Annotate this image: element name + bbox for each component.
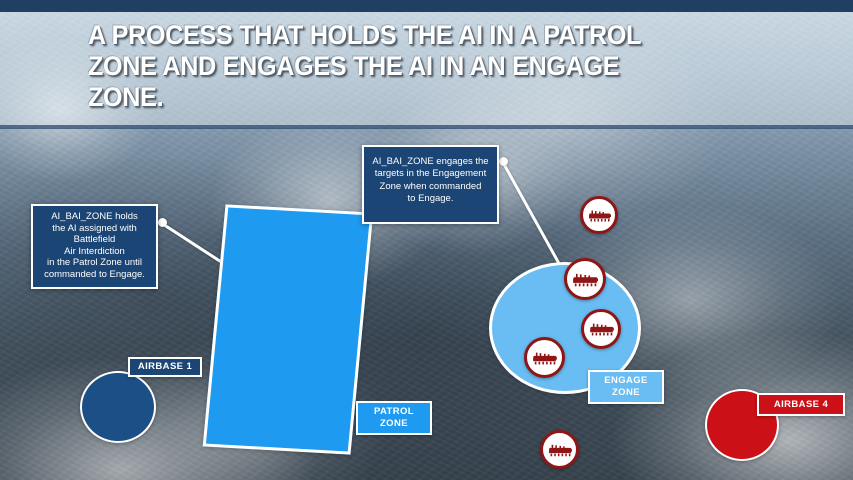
airbase-4-label[interactable]: AIRBASE 4 [757, 393, 845, 416]
factory-icon [588, 209, 611, 222]
patrol-zone-label[interactable]: PATROL ZONE [356, 401, 432, 435]
target-marker[interactable] [540, 430, 579, 469]
factory-icon [532, 351, 557, 365]
patrol-callout-box: AI_BAI_ZONE holds the AI assigned with B… [31, 204, 158, 289]
target-marker[interactable] [581, 309, 621, 349]
factory-icon [548, 443, 572, 457]
factory-icon [589, 322, 614, 336]
airbase-1-marker[interactable] [80, 371, 156, 443]
header-top-rule [0, 0, 853, 12]
page-title: A PROCESS THAT HOLDS THE AI IN A PATROL … [88, 20, 739, 113]
target-marker[interactable] [564, 258, 606, 300]
engage-connector-start-dot [499, 157, 508, 166]
airbase-1-label[interactable]: AIRBASE 1 [128, 357, 202, 377]
engage-zone-label[interactable]: ENGAGE ZONE [588, 370, 664, 404]
target-marker[interactable] [524, 337, 565, 378]
target-marker[interactable] [580, 196, 618, 234]
presentation-slide: A PROCESS THAT HOLDS THE AI IN A PATROL … [0, 0, 853, 480]
patrol-zone-area[interactable] [203, 204, 374, 454]
engage-callout-box: AI_BAI_ZONE engages the targets in the E… [362, 145, 499, 224]
patrol-connector-start-dot [158, 218, 167, 227]
factory-icon [572, 272, 598, 287]
header-bottom-rule [0, 125, 853, 129]
